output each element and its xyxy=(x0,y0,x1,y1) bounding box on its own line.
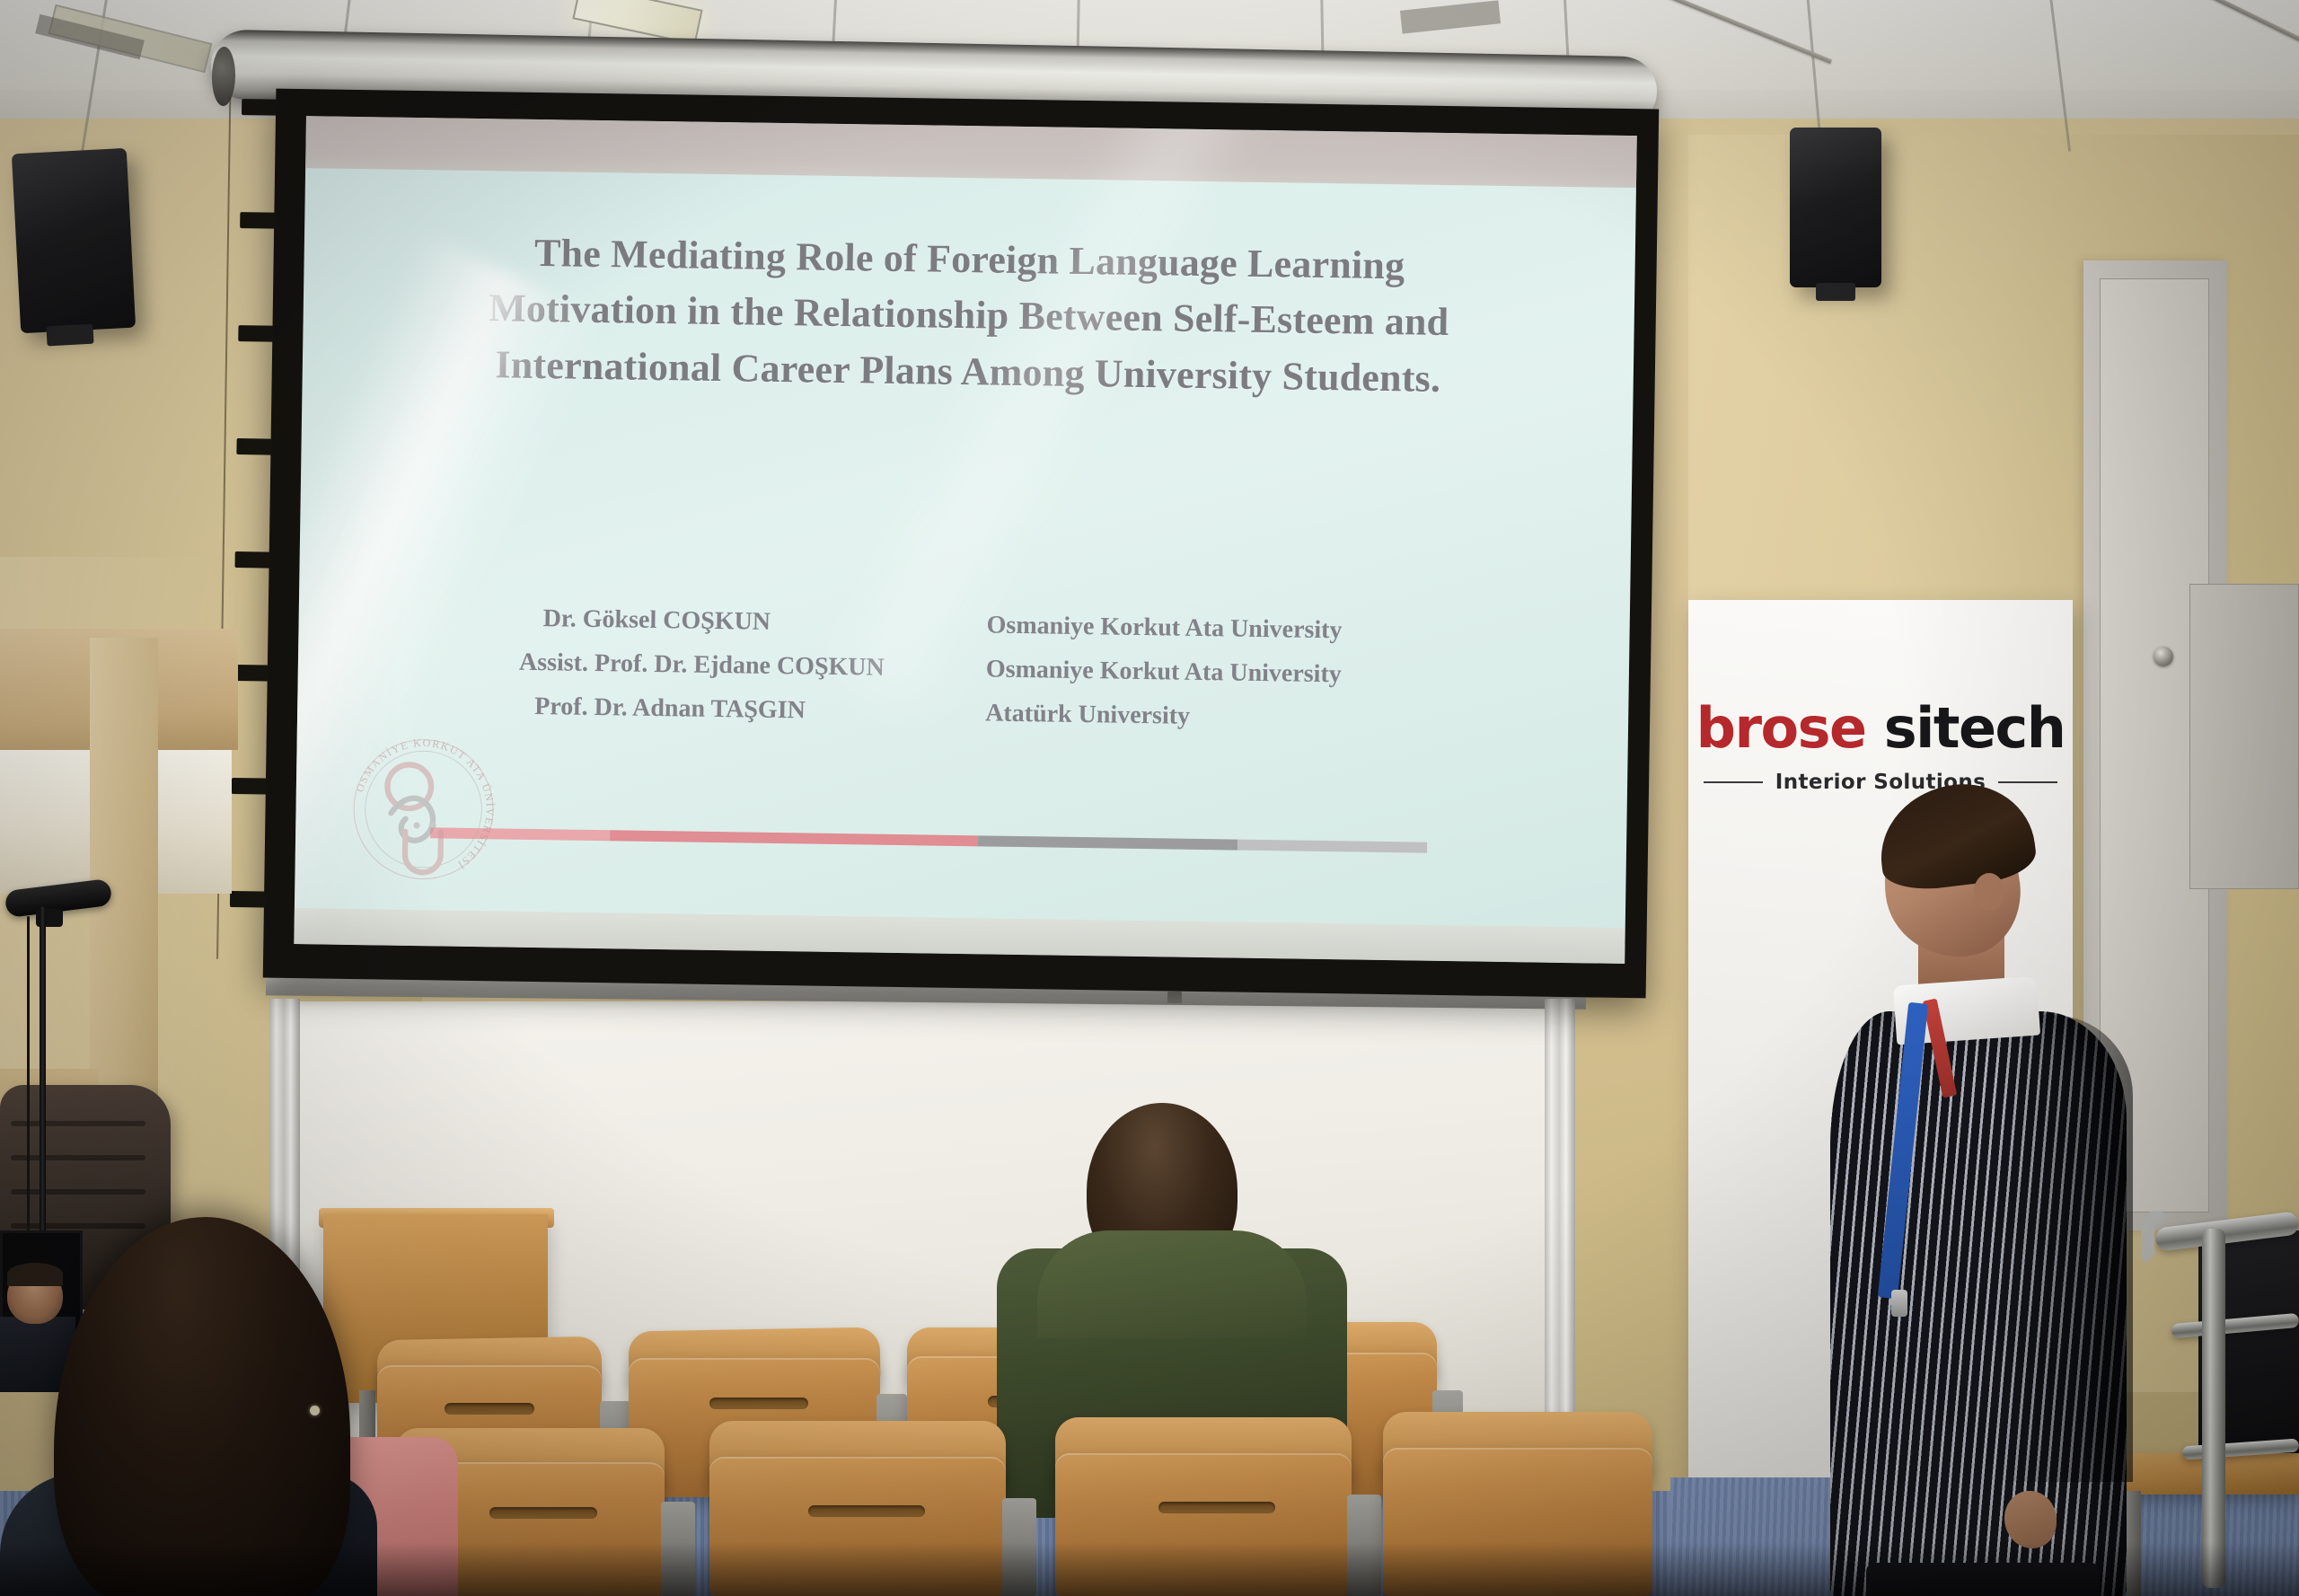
author-name: Dr. Göksel COŞKUN xyxy=(519,604,986,640)
university-seal-logo-icon: OSMANİYE KORKUT ATA ÜNİVERSİTESİ xyxy=(341,727,506,892)
screen-tension-tab xyxy=(235,551,271,569)
author-affiliation: Atatürk University xyxy=(985,699,1407,734)
slide-accent-bar xyxy=(430,827,1427,852)
seat[interactable] xyxy=(1055,1453,1352,1596)
earring-icon xyxy=(310,1406,320,1415)
seat[interactable] xyxy=(1383,1448,1652,1596)
presenter-shading xyxy=(1994,1015,2133,1482)
seat-handle-slot xyxy=(445,1403,534,1415)
lecture-hall-scene: The Mediating Role of Foreign Language L… xyxy=(0,0,2299,1596)
presenter-badge-clip xyxy=(1891,1290,1907,1317)
projection-screen: The Mediating Role of Foreign Language L… xyxy=(263,89,1660,999)
seat-bracket xyxy=(661,1502,695,1596)
chair-ridge xyxy=(11,1155,145,1160)
seat-handle-slot xyxy=(808,1505,925,1517)
seat-handle-slot xyxy=(709,1398,808,1409)
author-affiliation: Osmaniye Korkut Ata University xyxy=(986,655,1408,690)
accent-bar-segment xyxy=(1238,840,1427,853)
seat-bracket xyxy=(1002,1498,1036,1596)
microphone-cable xyxy=(27,916,30,1284)
service-panel-secondary xyxy=(2189,584,2299,889)
screen-tension-tab xyxy=(242,99,277,116)
presenter xyxy=(1778,790,2155,1596)
lock-icon[interactable] xyxy=(2154,647,2173,666)
banner-logo: brose sitech Interior Solutions xyxy=(1688,701,2073,794)
presenter-hand xyxy=(2004,1491,2057,1548)
screen-tension-tab xyxy=(240,212,276,229)
presenter-trousers xyxy=(1866,1563,2100,1596)
presenter-ear xyxy=(1974,873,2004,911)
banner-dash-left xyxy=(1704,781,1763,783)
slide-authors: Dr. Göksel COŞKUN Osmaniye Korkut Ata Un… xyxy=(297,601,1630,737)
handrail-post xyxy=(2202,1229,2225,1588)
microphone-stand xyxy=(40,907,46,1284)
seat-handle-slot xyxy=(489,1507,597,1519)
slide-surface: The Mediating Role of Foreign Language L… xyxy=(294,116,1637,964)
screen-tension-tab xyxy=(233,665,269,682)
chair-ridge xyxy=(11,1223,145,1229)
screen-tension-tab xyxy=(238,325,274,342)
portrait-hair xyxy=(7,1263,63,1286)
speaker-bracket xyxy=(46,324,93,347)
author-name: Assist. Prof. Dr. Ejdane COŞKUN xyxy=(519,648,986,684)
chair-ridge xyxy=(11,1121,145,1126)
whiteboard-clip xyxy=(1167,992,1182,1003)
screen-tension-tab xyxy=(230,891,266,908)
chair-ridge xyxy=(11,1189,145,1195)
author-affiliation: Osmaniye Korkut Ata University xyxy=(986,611,1408,646)
accent-bar-segment xyxy=(978,835,1238,850)
wall-speaker-left-icon xyxy=(12,148,136,333)
banner-brand-primary: brose xyxy=(1696,695,1866,761)
banner-dash-right xyxy=(1998,781,2057,783)
banner-brand-secondary: sitech xyxy=(1884,695,2066,761)
seat-bracket xyxy=(1347,1495,1381,1596)
speaker-bracket xyxy=(1816,283,1855,301)
author-name: Prof. Dr. Adnan TAŞGIN xyxy=(518,692,985,728)
accent-bar-segment xyxy=(610,830,979,846)
screen-tension-tab xyxy=(236,438,272,455)
slide-title: The Mediating Role of Foreign Language L… xyxy=(302,222,1635,410)
seat-handle-slot xyxy=(1158,1502,1275,1513)
wall-speaker-right-icon xyxy=(1790,128,1881,287)
seat[interactable] xyxy=(709,1457,1006,1596)
screen-tension-tab xyxy=(232,778,268,795)
audience-collar xyxy=(1037,1230,1307,1338)
